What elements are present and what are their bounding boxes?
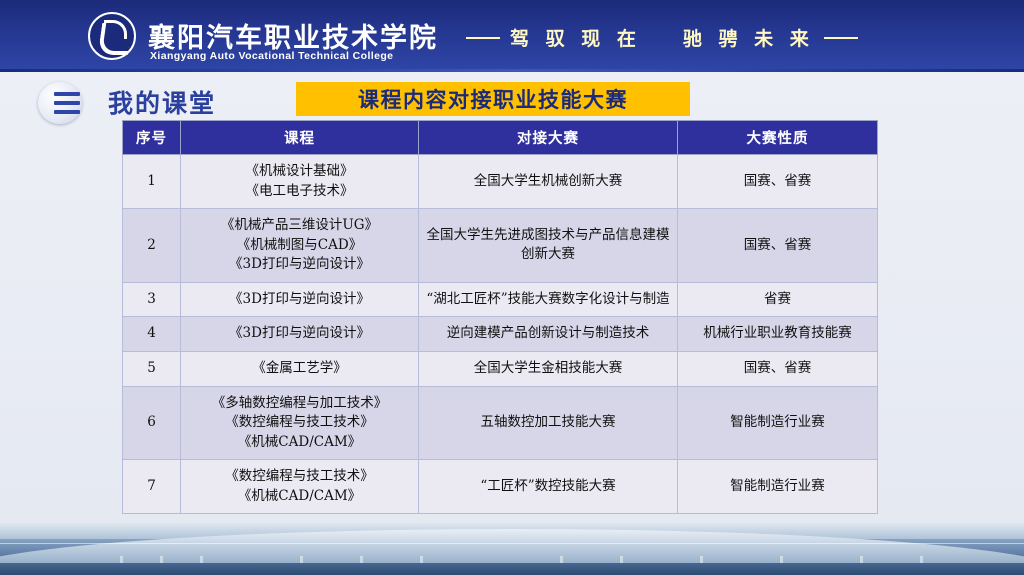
course-table-wrap: 序号 课程 对接大赛 大赛性质 1 《机械设计基础》 《电工电子技术》 全国大学…	[122, 120, 877, 514]
course-line: 《机械制图与CAD》	[187, 236, 412, 256]
slogan-dash-left	[466, 37, 500, 39]
table-row: 2 《机械产品三维设计UG》 《机械制图与CAD》 《3D打印与逆向设计》 全国…	[123, 209, 878, 283]
cell-course: 《3D打印与逆向设计》	[181, 282, 419, 317]
course-line: 《多轴数控编程与加工技术》	[187, 394, 412, 414]
slogan: 驾 驭 现 在 驰 骋 未 来	[466, 24, 858, 51]
course-line: 《金属工艺学》	[187, 359, 412, 379]
column-header-no: 序号	[123, 121, 181, 155]
course-line: 《3D打印与逆向设计》	[187, 255, 412, 275]
cell-competition: “工匠杯”数控技能大赛	[419, 460, 678, 514]
course-table: 序号 课程 对接大赛 大赛性质 1 《机械设计基础》 《电工电子技术》 全国大学…	[122, 120, 878, 514]
cell-no: 7	[123, 460, 181, 514]
cell-no: 4	[123, 317, 181, 352]
slogan-left-text: 驾 驭 现 在	[510, 24, 641, 51]
cell-no: 5	[123, 351, 181, 386]
cell-nature: 国赛、省赛	[678, 155, 878, 209]
course-line: 《3D打印与逆向设计》	[187, 324, 412, 344]
course-line: 《机械设计基础》	[187, 162, 412, 182]
cell-competition: 全国大学生先进成图技术与产品信息建模创新大赛	[419, 209, 678, 283]
course-line: 《机械产品三维设计UG》	[187, 216, 412, 236]
table-row: 3 《3D打印与逆向设计》 “湖北工匠杯”技能大赛数字化设计与制造 省赛	[123, 282, 878, 317]
cell-nature: 国赛、省赛	[678, 351, 878, 386]
cell-competition: 逆向建模产品创新设计与制造技术	[419, 317, 678, 352]
cell-competition: 全国大学生机械创新大赛	[419, 155, 678, 209]
table-row: 5 《金属工艺学》 全国大学生金相技能大赛 国赛、省赛	[123, 351, 878, 386]
course-line: 《机械CAD/CAM》	[187, 433, 412, 453]
cell-no: 1	[123, 155, 181, 209]
cell-nature: 国赛、省赛	[678, 209, 878, 283]
table-row: 7 《数控编程与技工技术》 《机械CAD/CAM》 “工匠杯”数控技能大赛 智能…	[123, 460, 878, 514]
banner-title: 课程内容对接职业技能大赛	[296, 82, 690, 116]
slogan-dash-right	[824, 37, 858, 39]
cell-no: 6	[123, 386, 181, 460]
table-row: 4 《3D打印与逆向设计》 逆向建模产品创新设计与制造技术 机械行业职业教育技能…	[123, 317, 878, 352]
course-line: 《机械CAD/CAM》	[187, 487, 412, 507]
cell-competition: 全国大学生金相技能大赛	[419, 351, 678, 386]
column-header-course: 课程	[181, 121, 419, 155]
header-banner: 襄阳汽车职业技术学院 Xiangyang Auto Vocational Tec…	[0, 0, 1024, 72]
cell-course: 《数控编程与技工技术》 《机械CAD/CAM》	[181, 460, 419, 514]
cell-no: 3	[123, 282, 181, 317]
cell-competition: 五轴数控加工技能大赛	[419, 386, 678, 460]
cell-course: 《金属工艺学》	[181, 351, 419, 386]
cell-course: 《机械设计基础》 《电工电子技术》	[181, 155, 419, 209]
cell-course: 《3D打印与逆向设计》	[181, 317, 419, 352]
slogan-right-text: 驰 骋 未 来	[683, 24, 814, 51]
school-name-en: Xiangyang Auto Vocational Technical Coll…	[150, 50, 393, 62]
cell-nature: 智能制造行业赛	[678, 386, 878, 460]
table-row: 6 《多轴数控编程与加工技术》 《数控编程与技工技术》 《机械CAD/CAM》 …	[123, 386, 878, 460]
cell-course: 《多轴数控编程与加工技术》 《数控编程与技工技术》 《机械CAD/CAM》	[181, 386, 419, 460]
table-header-row: 序号 课程 对接大赛 大赛性质	[123, 121, 878, 155]
column-header-nature: 大赛性质	[678, 121, 878, 155]
cell-competition: “湖北工匠杯”技能大赛数字化设计与制造	[419, 282, 678, 317]
cell-nature: 省赛	[678, 282, 878, 317]
footer-campus-image	[0, 523, 1024, 575]
course-line: 《数控编程与技工技术》	[187, 467, 412, 487]
slide: 襄阳汽车职业技术学院 Xiangyang Auto Vocational Tec…	[0, 0, 1024, 575]
cell-course: 《机械产品三维设计UG》 《机械制图与CAD》 《3D打印与逆向设计》	[181, 209, 419, 283]
table-row: 1 《机械设计基础》 《电工电子技术》 全国大学生机械创新大赛 国赛、省赛	[123, 155, 878, 209]
school-emblem-icon	[88, 12, 140, 62]
cell-no: 2	[123, 209, 181, 283]
cell-nature: 机械行业职业教育技能赛	[678, 317, 878, 352]
course-line: 《3D打印与逆向设计》	[187, 290, 412, 310]
course-line: 《电工电子技术》	[187, 182, 412, 202]
column-header-competition: 对接大赛	[419, 121, 678, 155]
hamburger-menu-icon[interactable]	[38, 78, 96, 126]
course-line: 《数控编程与技工技术》	[187, 413, 412, 433]
page-title: 我的课堂	[108, 84, 216, 120]
banner-title-text: 课程内容对接职业技能大赛	[358, 84, 628, 114]
cell-nature: 智能制造行业赛	[678, 460, 878, 514]
